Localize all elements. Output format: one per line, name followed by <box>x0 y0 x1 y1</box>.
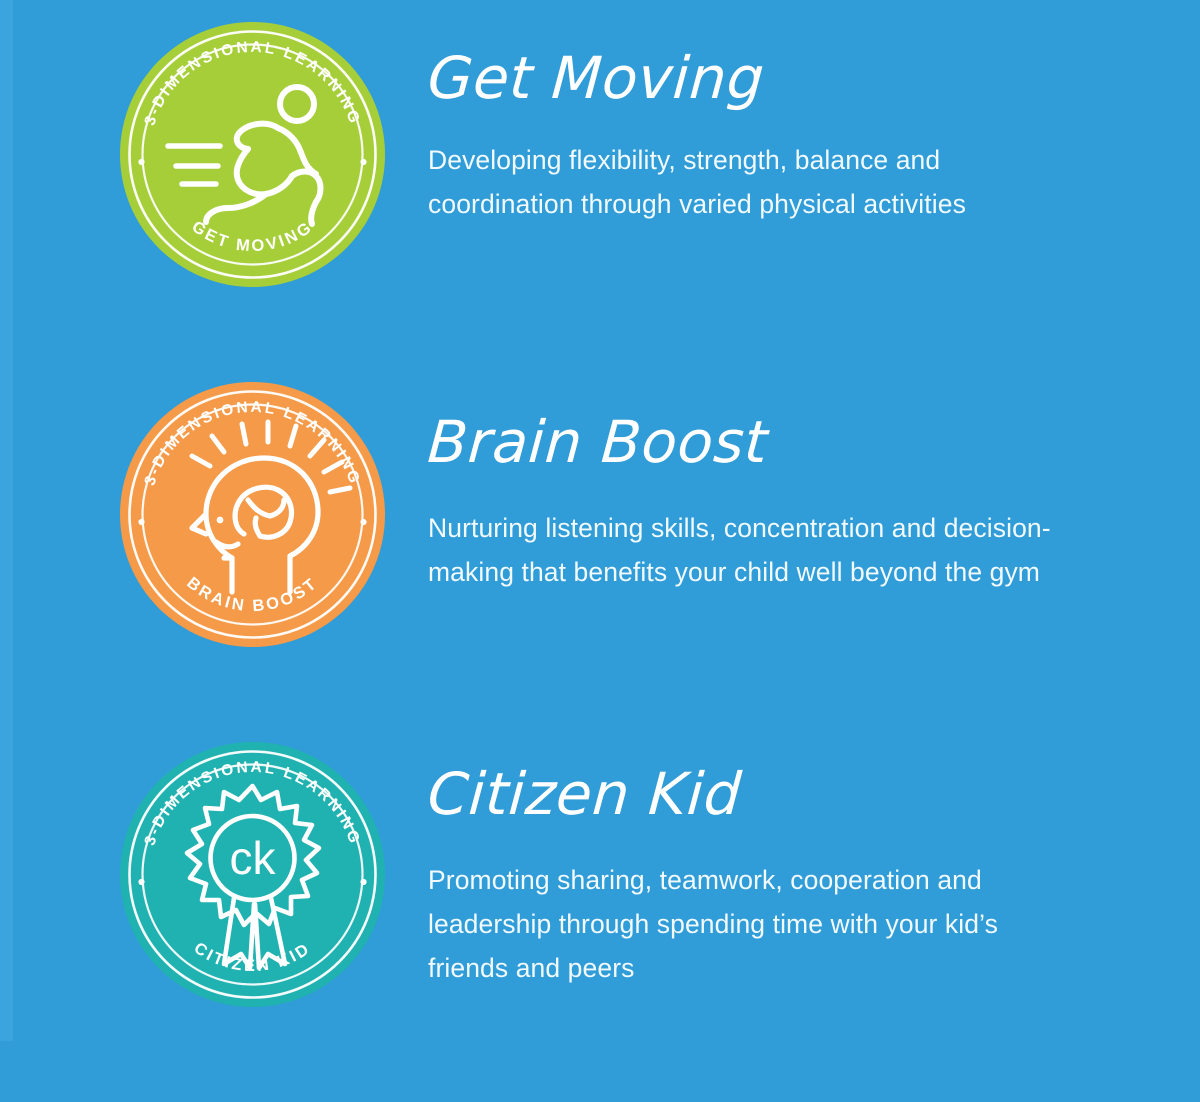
feature-row-brain-boost: 3-DIMENSIONAL LEARNING BRAIN BOOST <box>0 382 1200 742</box>
badge-brain-boost[interactable]: 3-DIMENSIONAL LEARNING BRAIN BOOST <box>120 382 385 647</box>
section-heading: Citizen Kid <box>426 764 1200 825</box>
badge-arc-top-text: 3-DIMENSIONAL LEARNING <box>141 39 363 128</box>
feature-list: 3-DIMENSIONAL LEARNING GET MOVING <box>0 0 1200 1102</box>
badge-dot-left <box>138 159 144 165</box>
section-body: Nurturing listening skills, concentratio… <box>428 507 1068 595</box>
badge-arc-top-text: 3-DIMENSIONAL LEARNING <box>141 399 363 488</box>
badge-dot-left <box>138 879 144 885</box>
badge-citizen-kid[interactable]: 3-DIMENSIONAL LEARNING CITIZEN KID <box>120 742 385 1007</box>
feature-row-get-moving: 3-DIMENSIONAL LEARNING GET MOVING <box>0 22 1200 382</box>
running-figure-icon <box>168 87 321 224</box>
badge-dot-right <box>360 879 366 885</box>
badge-arc-bottom-text: BRAIN BOOST <box>183 574 321 615</box>
section-heading: Brain Boost <box>426 412 1200 473</box>
text-cell: Get Moving Developing flexibility, stren… <box>385 22 1200 227</box>
section-body: Promoting sharing, teamwork, cooperation… <box>428 859 1068 991</box>
badge-dot-right <box>360 159 366 165</box>
badge-dot-right <box>360 519 366 525</box>
section-body: Developing flexibility, strength, balanc… <box>428 139 1068 227</box>
badge-cell: 3-DIMENSIONAL LEARNING BRAIN BOOST <box>0 382 385 647</box>
text-cell: Brain Boost Nurturing listening skills, … <box>385 382 1200 595</box>
badge-cell: 3-DIMENSIONAL LEARNING GET MOVING <box>0 22 385 287</box>
badge-get-moving[interactable]: 3-DIMENSIONAL LEARNING GET MOVING <box>120 22 385 287</box>
text-cell: Citizen Kid Promoting sharing, teamwork,… <box>385 742 1200 991</box>
section-heading: Get Moving <box>426 48 1200 109</box>
feature-row-citizen-kid: 3-DIMENSIONAL LEARNING CITIZEN KID <box>0 742 1200 1102</box>
badge-cell: 3-DIMENSIONAL LEARNING CITIZEN KID <box>0 742 385 1007</box>
badge-dot-left <box>138 519 144 525</box>
badge-monogram: ck <box>230 832 277 884</box>
